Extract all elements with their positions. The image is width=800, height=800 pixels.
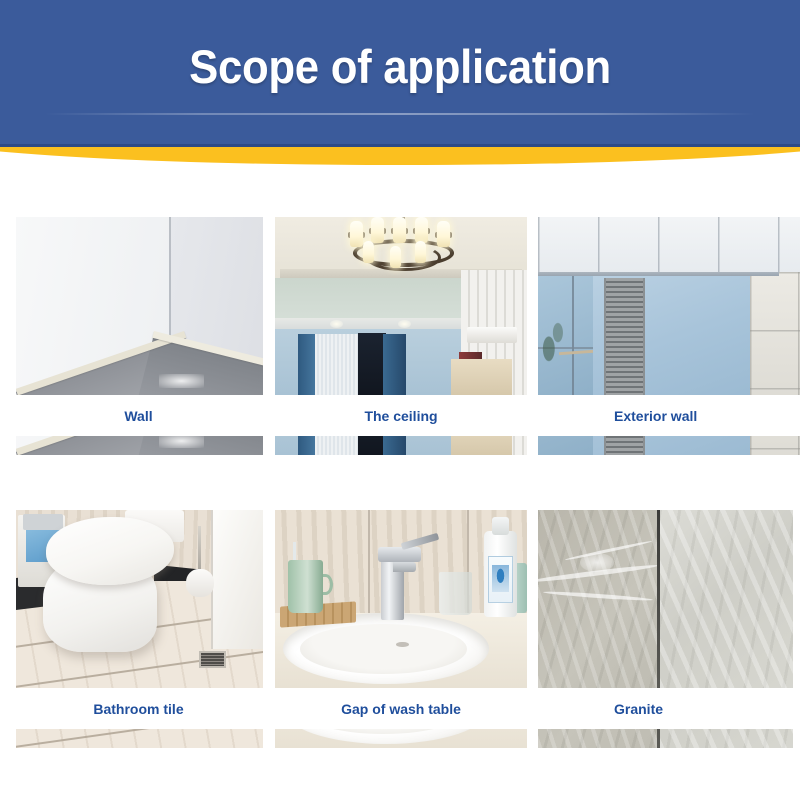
chandelier-icon [346, 217, 462, 278]
photo-granite[interactable] [538, 510, 800, 688]
header-sheen-line [45, 113, 755, 115]
photo-sliver-wash-table [275, 729, 527, 748]
photo-ceiling[interactable] [275, 217, 527, 395]
header-banner: Scope of application [0, 0, 800, 147]
gallery-item-bathroom-tile[interactable]: Bathroom tile [16, 510, 263, 748]
photo-wall[interactable] [16, 217, 263, 395]
bathroom-toilet-illustration [16, 510, 263, 688]
photo-sliver-wall [16, 436, 263, 455]
wall-corner-illustration [16, 217, 263, 395]
granite-slab-illustration [538, 510, 800, 688]
caption-wall: Wall [16, 408, 263, 425]
accent-arc-shape [0, 147, 800, 165]
photo-wash-table[interactable] [275, 510, 527, 688]
caption-ceiling: The ceiling [275, 408, 527, 425]
photo-exterior-wall[interactable] [538, 217, 800, 395]
photo-sliver-exterior-wall [538, 436, 800, 455]
gallery-item-wash-table[interactable]: Gap of wash table [275, 510, 527, 748]
photo-sliver-bathroom-tile [16, 729, 263, 748]
photo-bathroom-tile[interactable] [16, 510, 263, 688]
gallery-item-granite[interactable]: Granite [538, 510, 800, 748]
caption-wash-table: Gap of wash table [275, 701, 527, 718]
exterior-wall-illustration [538, 217, 800, 395]
ceiling-chandelier-illustration [275, 217, 527, 395]
gallery-item-wall[interactable]: Wall [16, 217, 263, 455]
caption-bathroom-tile: Bathroom tile [16, 701, 263, 718]
accent-arc-band [0, 147, 800, 171]
photo-sliver-granite [538, 729, 800, 748]
washbasin-illustration [275, 510, 527, 688]
photo-sliver-ceiling [275, 436, 527, 455]
gallery-item-exterior-wall[interactable]: Exterior wall [538, 217, 800, 455]
gallery-item-ceiling[interactable]: The ceiling [275, 217, 527, 455]
page-title: Scope of application [28, 38, 772, 96]
caption-exterior-wall: Exterior wall [538, 408, 800, 425]
caption-granite: Granite [538, 701, 800, 718]
